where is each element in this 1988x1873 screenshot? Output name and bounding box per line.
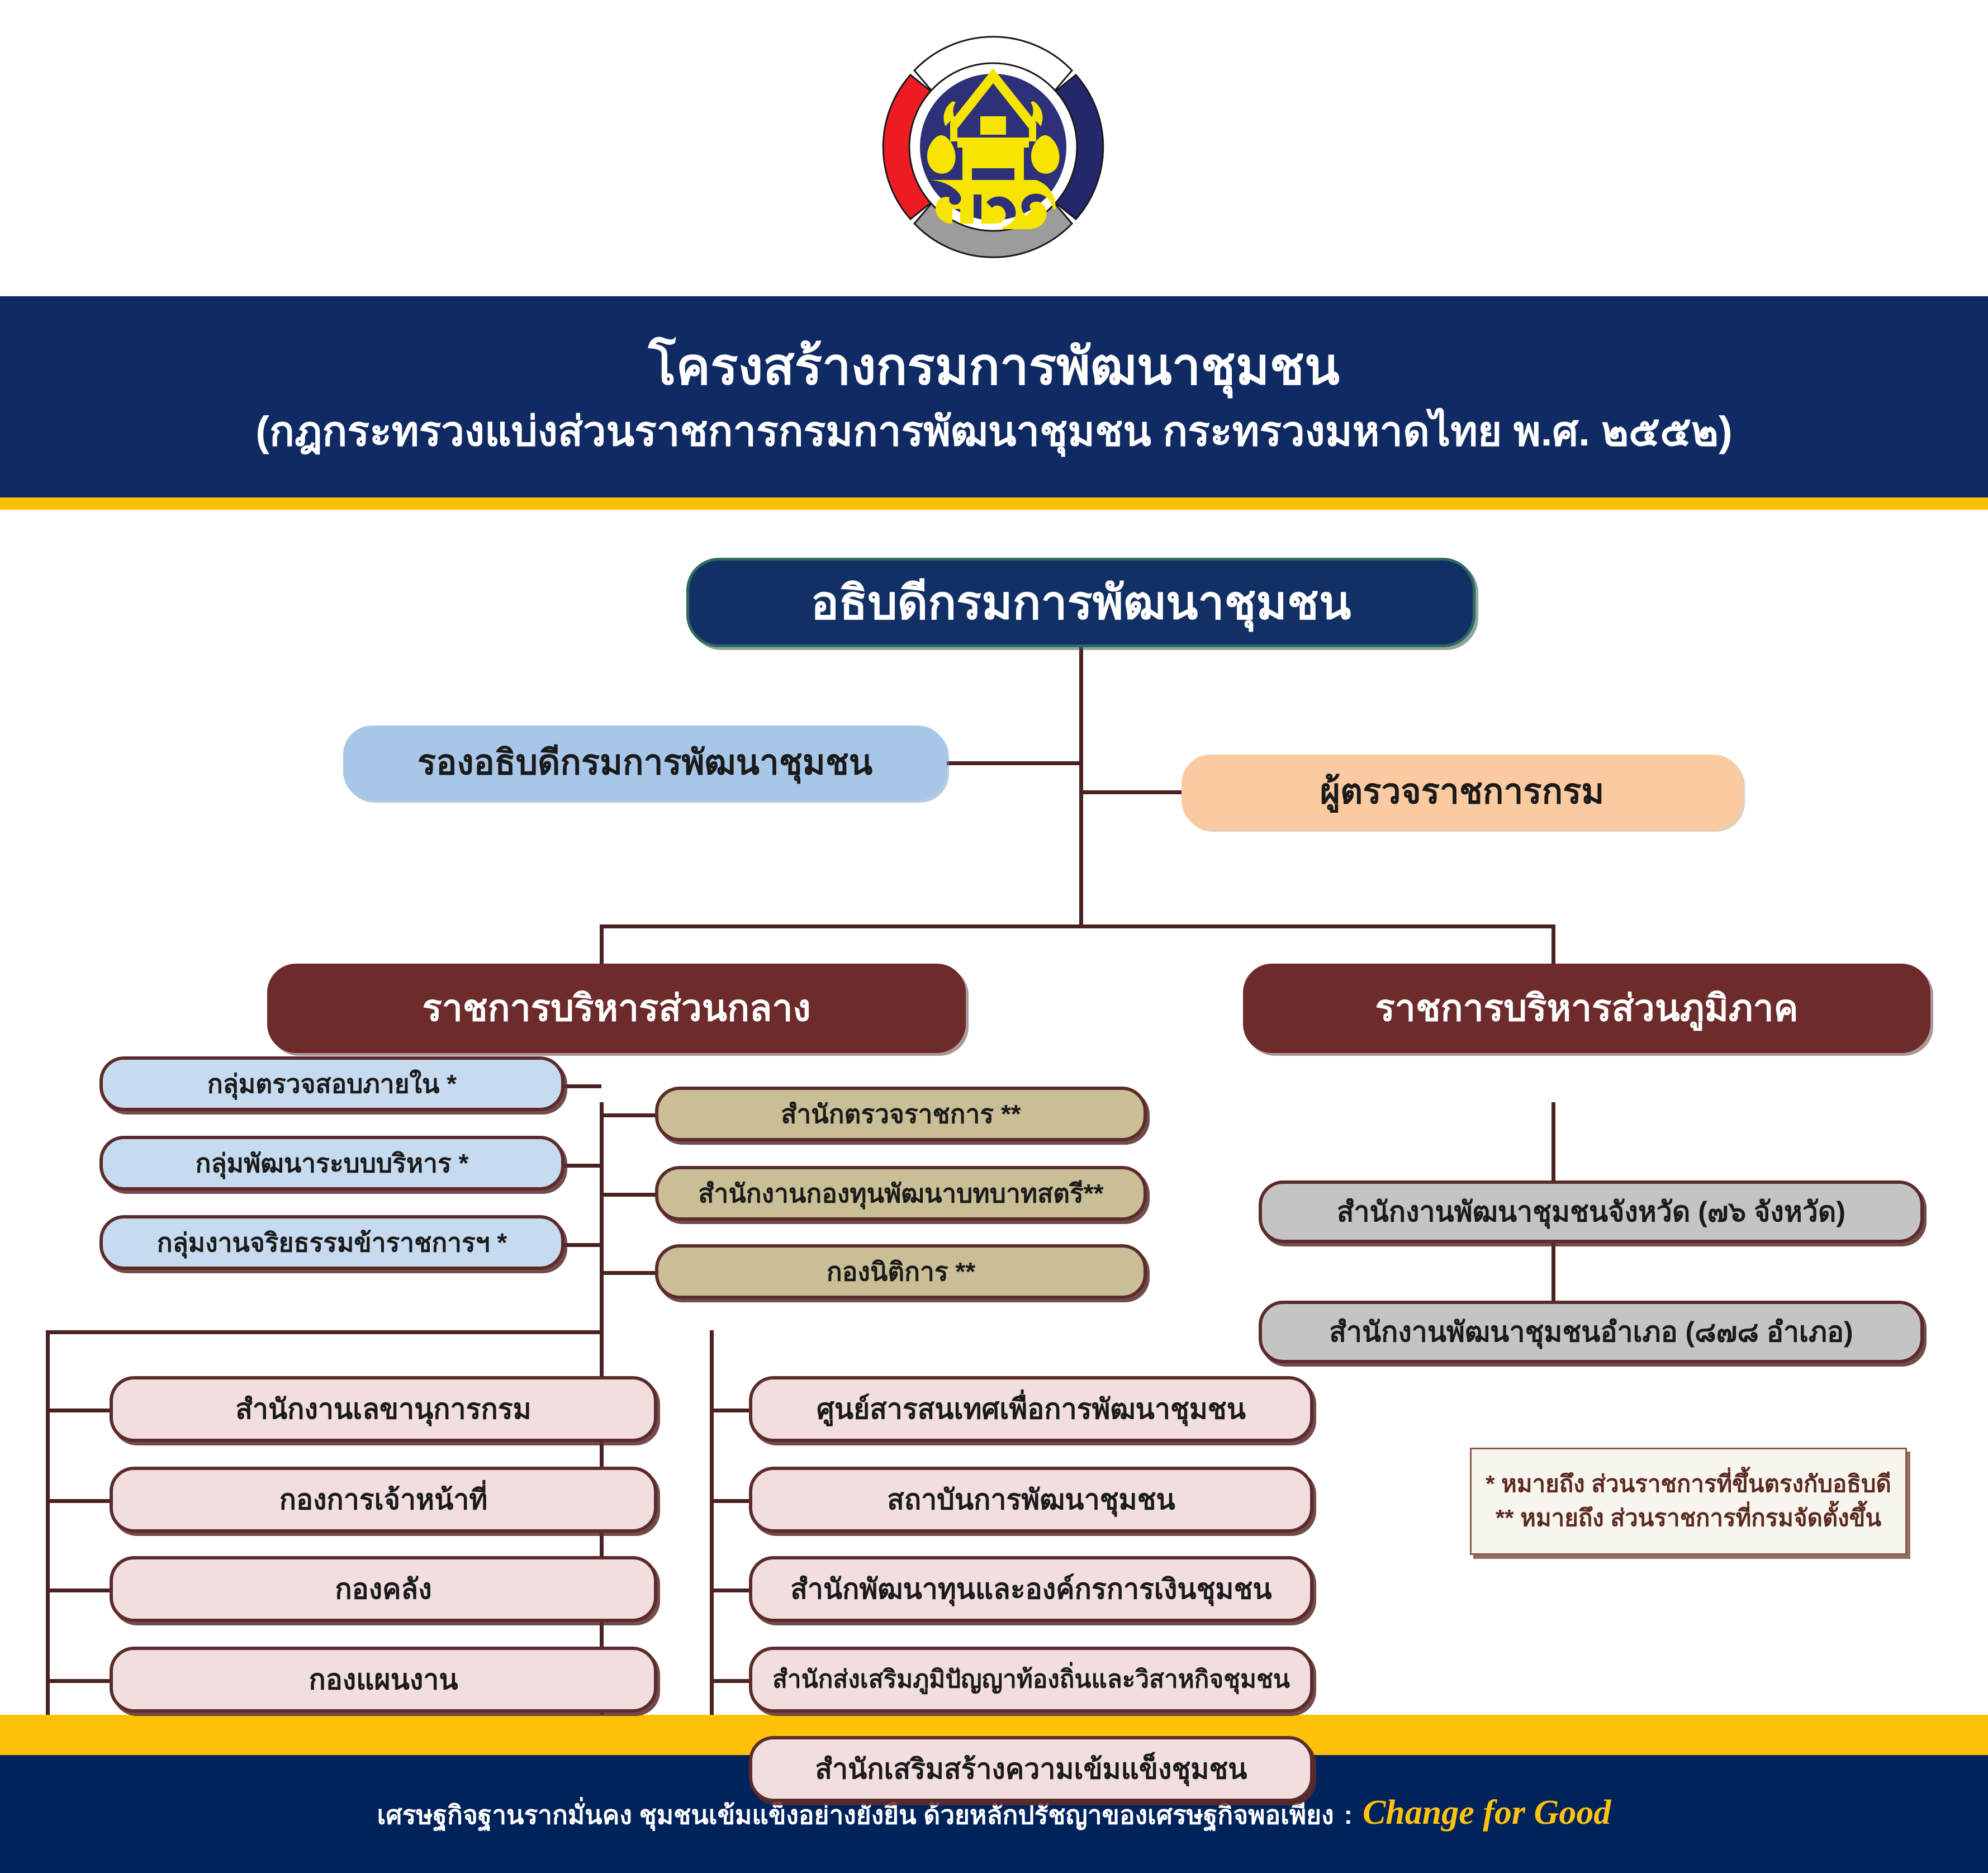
node-planning-division[interactable]: กองแผนงาน	[110, 1647, 657, 1713]
node-office-of-secretary[interactable]: สำนักงานเลขานุการกรม	[110, 1376, 657, 1442]
connector-blue-2	[562, 1164, 601, 1168]
node-regional-administration[interactable]: ราชการบริหารส่วนภูมิภาค	[1243, 964, 1930, 1053]
connector-pinkR-2	[710, 1499, 750, 1503]
node-office-of-secretary-label: สำนักงานเลขานุการกรม	[229, 1395, 538, 1424]
connector-inspector	[1079, 790, 1183, 794]
connector-admin-split	[600, 924, 1555, 928]
node-district-cdd-office[interactable]: สำนักงานพัฒนาชุมชนอำเภอ (๘๗๘ อำเภอ)	[1259, 1301, 1924, 1363]
node-district-cdd-label: สำนักงานพัฒนาชุมชนอำเภอ (๘๗๘ อำเภอ)	[1322, 1317, 1859, 1347]
node-inspector-general[interactable]: ผู้ตรวจราชการกรม	[1182, 755, 1743, 829]
node-finance-division[interactable]: กองคลัง	[110, 1556, 657, 1622]
node-cdi-label: สถาบันการพัฒนาชุมชน	[880, 1485, 1182, 1515]
node-central-administration[interactable]: ราชการบริหารส่วนกลาง	[267, 964, 966, 1053]
header-accent-rule	[0, 497, 1988, 510]
node-capital-finance-label: สำนักพัฒนาทุนและองค์กรการเงินชุมชน	[784, 1575, 1278, 1604]
node-capital-and-community-finance-bureau[interactable]: สำนักพัฒนาทุนและองค์กรการเงินชุมชน	[749, 1556, 1313, 1622]
footer-colon: :	[1344, 1800, 1353, 1830]
node-internal-audit-label: กลุ่มตรวจสอบภายใน *	[201, 1070, 463, 1097]
node-inspection-bureau-label: สำนักตรวจราชการ **	[774, 1101, 1027, 1127]
connector-blue-1	[562, 1084, 601, 1088]
connector-pinkL-2	[46, 1499, 112, 1503]
node-admin-system-label: กลุ่มพัฒนาระบบบริหาร *	[189, 1150, 476, 1177]
node-inspection-bureau[interactable]: สำนักตรวจราชการ **	[655, 1087, 1147, 1141]
connector-deputy	[947, 761, 1081, 765]
connector-tan-2	[600, 1193, 656, 1197]
connector-pinkL-4	[46, 1679, 112, 1683]
page-title: โครงสร้างกรมการพัฒนาชุมชน	[648, 339, 1340, 395]
node-legal-affairs-division[interactable]: กองนิติการ **	[655, 1244, 1147, 1299]
connector-pinkR-1	[710, 1409, 750, 1412]
footer-slogan: Change for Good	[1363, 1793, 1611, 1833]
cdd-department-emblem	[856, 10, 1130, 284]
node-womens-fund-office[interactable]: สำนักงานกองทุนพัฒนาบทบาทสตรี**	[655, 1166, 1147, 1221]
node-womens-fund-label: สำนักงานกองทุนพัฒนาบทบาทสตรี**	[691, 1180, 1110, 1207]
node-personnel-division-label: กองการเจ้าหน้าที่	[273, 1485, 495, 1515]
connector-pinkR-4	[710, 1679, 750, 1683]
node-local-wisdom-label: สำนักส่งเสริมภูมิปัญญาท้องถิ่นและวิสาหกิ…	[766, 1667, 1297, 1692]
connector-tan-3	[600, 1271, 656, 1275]
connector-lower-bracket-top-left	[46, 1330, 604, 1334]
node-director[interactable]: อธิบดีกรมการพัฒนาชุมชน	[686, 558, 1475, 647]
node-internal-audit-group[interactable]: กลุ่มตรวจสอบภายใน *	[99, 1056, 564, 1111]
node-civil-servant-ethics-group[interactable]: กลุ่มงานจริยธรรมข้าราชการฯ *	[99, 1215, 564, 1270]
connector-pinkR-3	[710, 1589, 750, 1592]
header-banner: โครงสร้างกรมการพัฒนาชุมชน (กฎกระทรวงแบ่ง…	[0, 296, 1988, 497]
node-deputy-label: รองอธิบดีกรมการพัฒนาชุมชน	[411, 745, 879, 781]
page-subtitle: (กฎกระทรวงแบ่งส่วนราชการกรมการพัฒนาชุมชน…	[255, 407, 1732, 455]
node-information-center-label: ศูนย์สารสนเทศเพื่อการพัฒนาชุมชน	[810, 1395, 1252, 1424]
node-inspector-label: ผู้ตรวจราชการกรม	[1313, 774, 1611, 810]
page-root: โครงสร้างกรมการพัฒนาชุมชน (กฎกระทรวงแบ่ง…	[0, 0, 1988, 1873]
node-local-wisdom-bureau[interactable]: สำนักส่งเสริมภูมิปัญญาท้องถิ่นและวิสาหกิ…	[749, 1647, 1313, 1713]
connector-director-trunk	[1079, 647, 1083, 928]
node-regional-label: ราชการบริหารส่วนภูมิภาค	[1368, 989, 1805, 1027]
node-admin-system-development-group[interactable]: กลุ่มพัฒนาระบบบริหาร *	[99, 1136, 564, 1191]
connector-tan-1	[600, 1113, 656, 1117]
node-community-strengthening-label: สำนักเสริมสร้างความเข้มแข็งชุมชน	[809, 1755, 1254, 1784]
node-ethics-label: กลุ่มงานจริยธรรมข้าราชการฯ *	[150, 1229, 514, 1256]
node-legal-affairs-label: กองนิติการ **	[820, 1258, 982, 1285]
node-information-center[interactable]: ศูนย์สารสนเทศเพื่อการพัฒนาชุมชน	[749, 1376, 1313, 1442]
node-personnel-division[interactable]: กองการเจ้าหน้าที่	[110, 1467, 657, 1533]
node-finance-division-label: กองคลัง	[328, 1575, 438, 1604]
node-provincial-cdd-office[interactable]: สำนักงานพัฒนาชุมชนจังหวัด (๗๖ จังหวัด)	[1259, 1180, 1924, 1243]
legend-line-single-asterisk: * หมายถึง ส่วนราชการที่ขึ้นตรงกับอธิบดี	[1484, 1467, 1893, 1501]
connector-pinkL-3	[46, 1589, 112, 1592]
connector-blue-3	[562, 1243, 601, 1247]
node-director-label: อธิบดีกรมการพัฒนาชุมชน	[804, 578, 1358, 627]
legend-box: * หมายถึง ส่วนราชการที่ขึ้นตรงกับอธิบดี …	[1470, 1448, 1907, 1555]
node-community-strengthening-bureau[interactable]: สำนักเสริมสร้างความเข้มแข็งชุมชน	[749, 1736, 1313, 1802]
node-deputy-director[interactable]: รองอธิบดีกรมการพัฒนาชุมชน	[343, 726, 947, 800]
logo-area	[0, 0, 1988, 293]
node-planning-division-label: กองแผนงาน	[302, 1665, 464, 1695]
connector-regional-link	[1552, 1236, 1555, 1306]
connector-pinkL-1	[46, 1409, 112, 1412]
node-provincial-cdd-label: สำนักงานพัฒนาชุมชนจังหวัด (๗๖ จังหวัด)	[1330, 1197, 1852, 1227]
legend-line-double-asterisk: ** หมายถึง ส่วนราชการที่กรมจัดตั้งขึ้น	[1484, 1501, 1893, 1535]
node-central-label: ราชการบริหารส่วนกลาง	[415, 989, 817, 1027]
node-community-development-institute[interactable]: สถาบันการพัฒนาชุมชน	[749, 1467, 1313, 1533]
